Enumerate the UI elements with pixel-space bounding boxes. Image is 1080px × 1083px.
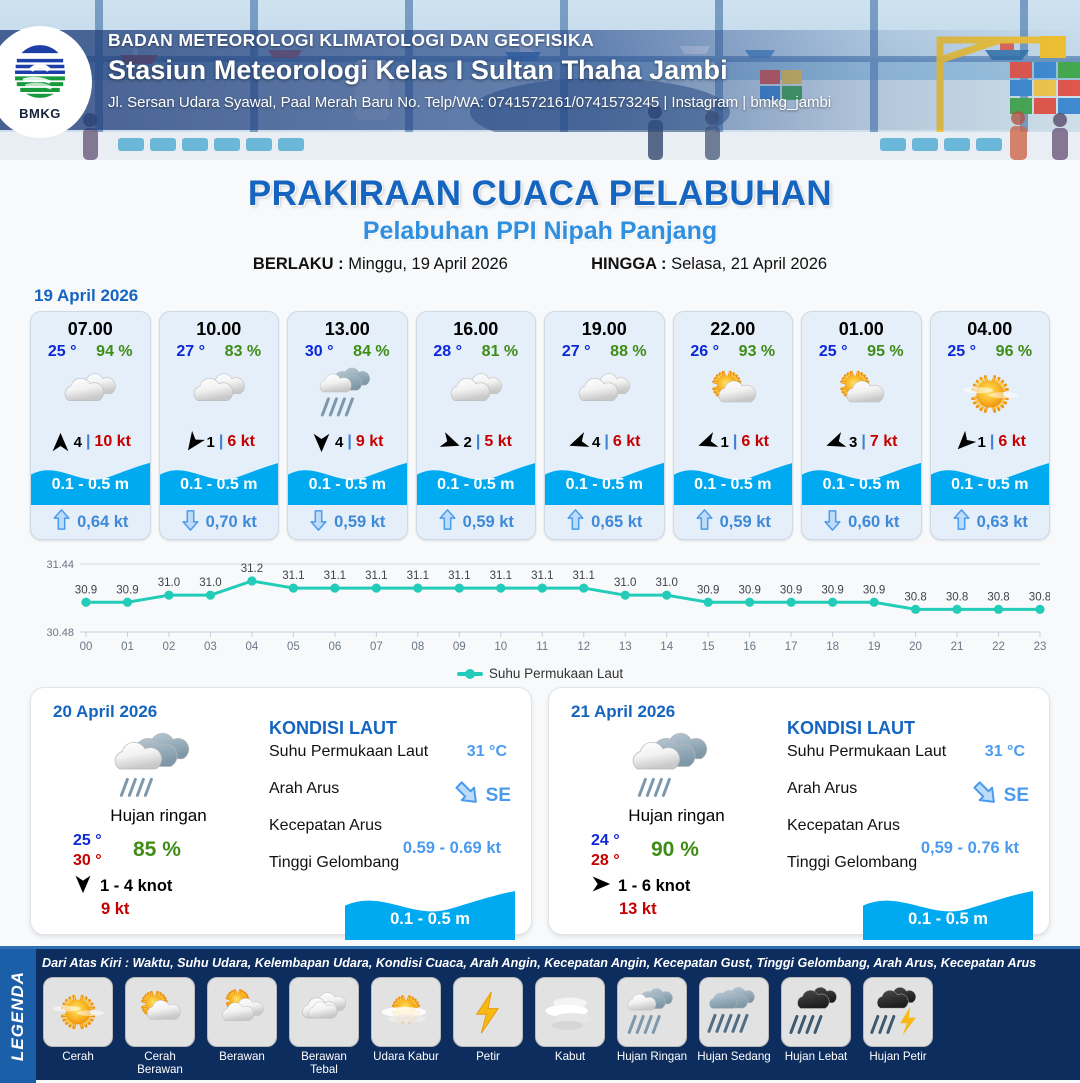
- legend-item: Hujan Lebat: [778, 977, 854, 1076]
- wave-band: 0.1 - 0.5 m: [931, 459, 1050, 505]
- card-current-speed: 0,63 kt: [977, 513, 1028, 532]
- daily-temp-min: 24 °: [591, 831, 620, 851]
- legend-side-label: LEGENDA: [8, 971, 28, 1061]
- card-temperature: 27 °: [562, 343, 591, 361]
- weather-icon-hujan-ringan: [617, 977, 687, 1047]
- daily-wind-range: 1 - 4 knot: [100, 877, 172, 896]
- sst-chart-svg: 31.4430.4830.90030.90131.00231.00331.204…: [30, 554, 1050, 656]
- svg-text:30.48: 30.48: [46, 627, 74, 639]
- current-speed-label: Kecepatan Arus: [787, 817, 900, 834]
- svg-text:31.0: 31.0: [158, 577, 180, 589]
- svg-text:31.1: 31.1: [324, 570, 346, 582]
- hourly-card: 19.00 27 ° 88 % 4 | 6 kt: [544, 311, 665, 540]
- wind-direction-arrow-icon: [440, 432, 460, 452]
- wave-band: 0.1 - 0.5 m: [288, 459, 407, 505]
- agency-name: BADAN METEOROLOGI KLIMATOLOGI DAN GEOFIS…: [108, 30, 1008, 51]
- current-direction-arrow-icon: [309, 509, 328, 536]
- legend-item: Berawan: [204, 977, 280, 1076]
- svg-text:31.1: 31.1: [407, 570, 429, 582]
- svg-text:20: 20: [909, 641, 922, 653]
- wave-height-value: 0.1 - 0.5 m: [863, 910, 1033, 929]
- weather-icon-berawan: [417, 363, 536, 425]
- svg-text:30.9: 30.9: [697, 584, 719, 596]
- svg-text:10: 10: [494, 641, 507, 653]
- hingga-value: Selasa, 21 April 2026: [671, 255, 827, 273]
- current-direction-value: SE: [486, 785, 511, 807]
- bmkg-logo-text: BMKG: [19, 106, 61, 121]
- svg-text:01: 01: [121, 641, 134, 653]
- current-direction-se-arrow-icon: [970, 778, 1000, 814]
- svg-text:30.9: 30.9: [75, 584, 97, 596]
- card-separator: |: [861, 433, 865, 451]
- card-wave-height: 0.1 - 0.5 m: [545, 476, 664, 494]
- svg-text:07: 07: [370, 641, 383, 653]
- legend-item-label: Berawan: [204, 1050, 280, 1063]
- wave-band: 0.1 - 0.5 m: [160, 459, 279, 505]
- card-time: 13.00: [288, 312, 407, 340]
- card-humidity: 96 %: [996, 343, 1032, 361]
- current-direction-arrow-icon: [695, 509, 714, 536]
- card-wind-direction: 2: [464, 434, 472, 451]
- card-separator: |: [219, 433, 223, 451]
- legend-item-label: Petir: [450, 1050, 526, 1063]
- sst-chart: 31.4430.4830.90030.90131.00231.00331.204…: [30, 554, 1050, 664]
- wind-direction-arrow-icon: [183, 432, 203, 452]
- hourly-card: 07.00 25 ° 94 % 4 | 10 kt: [30, 311, 151, 540]
- card-wave-height: 0.1 - 0.5 m: [31, 476, 150, 494]
- legend-item: Hujan Ringan: [614, 977, 690, 1076]
- berlaku-label: BERLAKU :: [253, 255, 344, 273]
- daily-forecast-panel: 20 April 2026 Hujan ringan 25 ° 30 ° 85 …: [30, 687, 532, 935]
- daily-temp-min: 25 °: [73, 831, 102, 851]
- sst-value: 31 °C: [985, 743, 1025, 761]
- daily-condition: Hujan ringan: [549, 806, 804, 826]
- wave-band: 0.1 - 0.5 m: [802, 459, 921, 505]
- wave-band: 0.1 - 0.5 m: [417, 459, 536, 505]
- card-separator: |: [86, 433, 90, 451]
- card-temperature: 25 °: [947, 343, 976, 361]
- card-humidity: 81 %: [482, 343, 518, 361]
- wave-band: 0.1 - 0.5 m: [31, 459, 150, 505]
- card-time: 04.00: [931, 312, 1050, 340]
- weather-icon-berawan: [31, 363, 150, 425]
- card-separator: |: [733, 433, 737, 451]
- card-time: 10.00: [160, 312, 279, 340]
- card-current-speed: 0,64 kt: [77, 513, 128, 532]
- legend-item: Udara Kabur: [368, 977, 444, 1076]
- daily-condition: Hujan ringan: [31, 806, 286, 826]
- card-current-speed: 0,60 kt: [848, 513, 899, 532]
- card-wind-direction: 4: [335, 434, 343, 451]
- svg-text:30.8: 30.8: [904, 591, 926, 603]
- svg-text:04: 04: [246, 641, 259, 653]
- legend-side-tab: LEGENDA: [0, 949, 36, 1083]
- page-header: BMKG BADAN METEOROLOGI KLIMATOLOGI DAN G…: [0, 0, 1080, 160]
- berlaku-value: Minggu, 19 April 2026: [348, 255, 508, 273]
- current-direction-arrow-icon: [181, 509, 200, 536]
- current-direction-label: Arah Arus: [787, 780, 857, 797]
- daily-forecast-row: 20 April 2026 Hujan ringan 25 ° 30 ° 85 …: [0, 681, 1080, 935]
- legend-item: Cerah Berawan: [122, 977, 198, 1076]
- card-wind-direction: 3: [849, 434, 857, 451]
- svg-text:22: 22: [992, 641, 1005, 653]
- weather-icon-petir: [453, 977, 523, 1047]
- card-current-speed: 0,65 kt: [591, 513, 642, 532]
- hourly-card: 10.00 27 ° 83 % 1 | 6 kt: [159, 311, 280, 540]
- svg-text:31.0: 31.0: [656, 577, 678, 589]
- daily-gust-speed: 13 kt: [619, 900, 657, 919]
- validity-row: BERLAKU : Minggu, 19 April 2026 HINGGA :…: [0, 255, 1080, 274]
- wave-height-badge: 0.1 - 0.5 m: [863, 888, 1033, 940]
- legend-icon-list: Cerah Cerah Berawan Bera: [40, 977, 1074, 1076]
- svg-text:06: 06: [328, 641, 341, 653]
- daily-wind-range: 1 - 6 knot: [618, 877, 690, 896]
- card-wave-height: 0.1 - 0.5 m: [288, 476, 407, 494]
- hourly-card: 01.00 25 ° 95 % 3 | 7 kt: [801, 311, 922, 540]
- card-gust-speed: 10 kt: [94, 433, 130, 451]
- daily-humidity: 90 %: [651, 838, 699, 862]
- legend-item-label: Cerah Berawan: [122, 1050, 198, 1076]
- card-wave-height: 0.1 - 0.5 m: [931, 476, 1050, 494]
- svg-text:31.1: 31.1: [448, 570, 470, 582]
- card-separator: |: [347, 433, 351, 451]
- daily-forecast-panel: 21 April 2026 Hujan ringan 24 ° 28 ° 90 …: [548, 687, 1050, 935]
- svg-text:18: 18: [826, 641, 839, 653]
- svg-text:30.9: 30.9: [821, 584, 843, 596]
- current-direction-arrow-icon: [952, 509, 971, 536]
- wave-height-value: 0.1 - 0.5 m: [345, 910, 515, 929]
- station-contact: Jl. Sersan Udara Syawal, Paal Merah Baru…: [108, 94, 1008, 111]
- wind-direction-arrow-icon: [591, 874, 611, 899]
- svg-text:31.1: 31.1: [531, 570, 553, 582]
- legend-item-label: Hujan Sedang: [696, 1050, 772, 1063]
- card-gust-speed: 7 kt: [870, 433, 898, 451]
- sea-conditions-title: KONDISI LAUT: [787, 718, 1033, 739]
- hourly-date-label: 19 April 2026: [34, 286, 1080, 306]
- svg-text:11: 11: [536, 641, 548, 653]
- legend-item: Petir: [450, 977, 526, 1076]
- current-speed-label: Kecepatan Arus: [269, 817, 382, 834]
- wind-direction-arrow-icon: [697, 432, 717, 452]
- card-time: 01.00: [802, 312, 921, 340]
- current-direction-arrow-icon: [823, 509, 842, 536]
- svg-text:31.2: 31.2: [241, 563, 263, 575]
- card-temperature: 25 °: [48, 343, 77, 361]
- svg-text:31.1: 31.1: [573, 570, 595, 582]
- wind-direction-arrow-icon: [568, 432, 588, 452]
- card-temperature: 26 °: [690, 343, 719, 361]
- card-wind-direction: 4: [74, 434, 82, 451]
- legend-item-label: Hujan Lebat: [778, 1050, 854, 1063]
- card-wind-direction: 1: [207, 434, 215, 451]
- card-gust-speed: 6 kt: [741, 433, 769, 451]
- current-direction-arrow-icon: [566, 509, 585, 536]
- svg-text:12: 12: [577, 641, 590, 653]
- hingga-label: HINGGA :: [591, 255, 666, 273]
- svg-text:30.9: 30.9: [738, 584, 760, 596]
- svg-text:02: 02: [163, 641, 176, 653]
- sst-label: Suhu Permukaan Laut: [787, 743, 946, 760]
- weather-icon-kabut: [535, 977, 605, 1047]
- card-temperature: 30 °: [305, 343, 334, 361]
- card-current-speed: 0,70 kt: [206, 513, 257, 532]
- card-humidity: 83 %: [225, 343, 261, 361]
- card-time: 16.00: [417, 312, 536, 340]
- legend-note: Dari Atas Kiri : Waktu, Suhu Udara, Kele…: [42, 956, 1074, 970]
- svg-text:31.44: 31.44: [46, 559, 74, 571]
- page-subtitle: Pelabuhan PPI Nipah Panjang: [0, 217, 1080, 246]
- legend-item-label: Udara Kabur: [368, 1050, 444, 1063]
- card-temperature: 28 °: [433, 343, 462, 361]
- wave-band: 0.1 - 0.5 m: [674, 459, 793, 505]
- weather-icon-cerah-berawan: [674, 363, 793, 425]
- legend-item: Cerah: [40, 977, 116, 1076]
- hourly-card: 13.00 30 ° 84 % 4 | 9 kt: [287, 311, 408, 540]
- wind-direction-arrow-icon: [73, 874, 93, 899]
- legend-item: Kabut: [532, 977, 608, 1076]
- card-separator: |: [604, 433, 608, 451]
- card-current-speed: 0,59 kt: [334, 513, 385, 532]
- svg-text:00: 00: [80, 641, 93, 653]
- card-gust-speed: 6 kt: [998, 433, 1026, 451]
- hourly-card: 16.00 28 ° 81 % 2 | 5 kt: [416, 311, 537, 540]
- current-direction-label: Arah Arus: [269, 780, 339, 797]
- bmkg-logo-icon: [11, 43, 69, 105]
- legend-item: Hujan Sedang: [696, 977, 772, 1076]
- card-wind-direction: 4: [592, 434, 600, 451]
- page-title: PRAKIRAAN CUACA PELABUHAN: [0, 174, 1080, 214]
- svg-text:21: 21: [951, 641, 964, 653]
- wave-height-badge: 0.1 - 0.5 m: [345, 888, 515, 940]
- card-humidity: 84 %: [353, 343, 389, 361]
- svg-text:31.1: 31.1: [365, 570, 387, 582]
- card-gust-speed: 6 kt: [613, 433, 641, 451]
- card-gust-speed: 6 kt: [227, 433, 255, 451]
- weather-icon-hujan-lebat: [781, 977, 851, 1047]
- svg-text:30.9: 30.9: [863, 584, 885, 596]
- current-direction-arrow-icon: [52, 509, 71, 536]
- svg-text:30.8: 30.8: [1029, 591, 1050, 603]
- legend-item-label: Berawan Tebal: [286, 1050, 362, 1076]
- svg-text:09: 09: [453, 641, 466, 653]
- card-current-speed: 0,59 kt: [720, 513, 771, 532]
- svg-text:31.1: 31.1: [490, 570, 512, 582]
- card-time: 22.00: [674, 312, 793, 340]
- chart-legend: Suhu Permukaan Laut: [0, 666, 1080, 681]
- svg-text:30.9: 30.9: [780, 584, 802, 596]
- svg-text:14: 14: [660, 641, 673, 653]
- daily-date: 21 April 2026: [571, 702, 675, 722]
- daily-temp-max: 28 °: [591, 851, 620, 871]
- legend-item-label: Kabut: [532, 1050, 608, 1063]
- wind-direction-arrow-icon: [825, 432, 845, 452]
- daily-temp-max: 30 °: [73, 851, 102, 871]
- card-time: 19.00: [545, 312, 664, 340]
- current-direction-arrow-icon: [438, 509, 457, 536]
- svg-text:31.0: 31.0: [614, 577, 636, 589]
- weather-icon-cerah-berawan: [802, 363, 921, 425]
- sea-conditions-title: KONDISI LAUT: [269, 718, 515, 739]
- svg-text:03: 03: [204, 641, 217, 653]
- card-humidity: 93 %: [739, 343, 775, 361]
- weather-icon-cerah-berawan: [125, 977, 195, 1047]
- title-block: PRAKIRAAN CUACA PELABUHAN Pelabuhan PPI …: [0, 160, 1080, 274]
- svg-text:17: 17: [785, 641, 798, 653]
- weather-icon-hujan-sedang: [699, 977, 769, 1047]
- weather-icon-cerah: [43, 977, 113, 1047]
- svg-text:31.1: 31.1: [282, 570, 304, 582]
- hourly-card: 22.00 26 ° 93 % 1 | 6 kt: [673, 311, 794, 540]
- card-temperature: 25 °: [819, 343, 848, 361]
- current-direction-value: SE: [1004, 785, 1029, 807]
- wave-height-label: Tinggi Gelombang: [269, 854, 399, 871]
- daily-gust-speed: 9 kt: [101, 900, 129, 919]
- card-humidity: 88 %: [610, 343, 646, 361]
- svg-text:13: 13: [619, 641, 632, 653]
- sst-label: Suhu Permukaan Laut: [269, 743, 428, 760]
- weather-icon-berawan: [160, 363, 279, 425]
- chart-legend-label: Suhu Permukaan Laut: [489, 666, 623, 681]
- wind-direction-arrow-icon: [954, 432, 974, 452]
- svg-text:19: 19: [868, 641, 881, 653]
- weather-icon-udara-kabur: [371, 977, 441, 1047]
- weather-icon-hujan-petir: [863, 977, 933, 1047]
- card-humidity: 94 %: [96, 343, 132, 361]
- sst-value: 31 °C: [467, 743, 507, 761]
- hourly-card: 04.00 25 ° 96 % 1 | 6 kt: [930, 311, 1051, 540]
- weather-icon-hujan-ringan: [288, 363, 407, 425]
- wave-height-label: Tinggi Gelombang: [787, 854, 917, 871]
- card-separator: |: [990, 433, 994, 451]
- hourly-forecast-row: 07.00 25 ° 94 % 4 | 10 kt: [0, 311, 1080, 540]
- weather-icon-berawan-sun: [207, 977, 277, 1047]
- svg-text:15: 15: [702, 641, 715, 653]
- card-time: 07.00: [31, 312, 150, 340]
- legend-item: Berawan Tebal: [286, 977, 362, 1076]
- daily-date: 20 April 2026: [53, 702, 157, 722]
- card-wind-direction: 1: [721, 434, 729, 451]
- weather-icon-berawan: [545, 363, 664, 425]
- svg-text:23: 23: [1034, 641, 1047, 653]
- card-wave-height: 0.1 - 0.5 m: [802, 476, 921, 494]
- svg-text:08: 08: [411, 641, 424, 653]
- chart-legend-swatch-icon: [457, 672, 483, 676]
- card-wave-height: 0.1 - 0.5 m: [674, 476, 793, 494]
- weather-icon-berawan-tebal: [289, 977, 359, 1047]
- legend-section: LEGENDA Dari Atas Kiri : Waktu, Suhu Uda…: [0, 946, 1080, 1080]
- card-humidity: 95 %: [867, 343, 903, 361]
- svg-text:30.8: 30.8: [987, 591, 1009, 603]
- card-gust-speed: 9 kt: [356, 433, 384, 451]
- card-separator: |: [476, 433, 480, 451]
- weather-icon-cerah: [931, 363, 1050, 425]
- svg-text:16: 16: [743, 641, 756, 653]
- svg-text:30.8: 30.8: [946, 591, 968, 603]
- legend-item-label: Cerah: [40, 1050, 116, 1063]
- wave-band: 0.1 - 0.5 m: [545, 459, 664, 505]
- wind-direction-arrow-icon: [50, 432, 70, 452]
- station-name: Stasiun Meteorologi Kelas I Sultan Thaha…: [108, 55, 1008, 86]
- wind-direction-arrow-icon: [311, 432, 331, 452]
- daily-humidity: 85 %: [133, 838, 181, 862]
- legend-item-label: Hujan Ringan: [614, 1050, 690, 1063]
- card-temperature: 27 °: [176, 343, 205, 361]
- legend-item-label: Hujan Petir: [860, 1050, 936, 1063]
- svg-text:05: 05: [287, 641, 300, 653]
- card-gust-speed: 5 kt: [484, 433, 512, 451]
- current-direction-se-arrow-icon: [452, 778, 482, 814]
- card-current-speed: 0,59 kt: [463, 513, 514, 532]
- card-wave-height: 0.1 - 0.5 m: [160, 476, 279, 494]
- svg-text:30.9: 30.9: [116, 584, 138, 596]
- legend-item: Hujan Petir: [860, 977, 936, 1076]
- svg-text:31.0: 31.0: [199, 577, 221, 589]
- card-wave-height: 0.1 - 0.5 m: [417, 476, 536, 494]
